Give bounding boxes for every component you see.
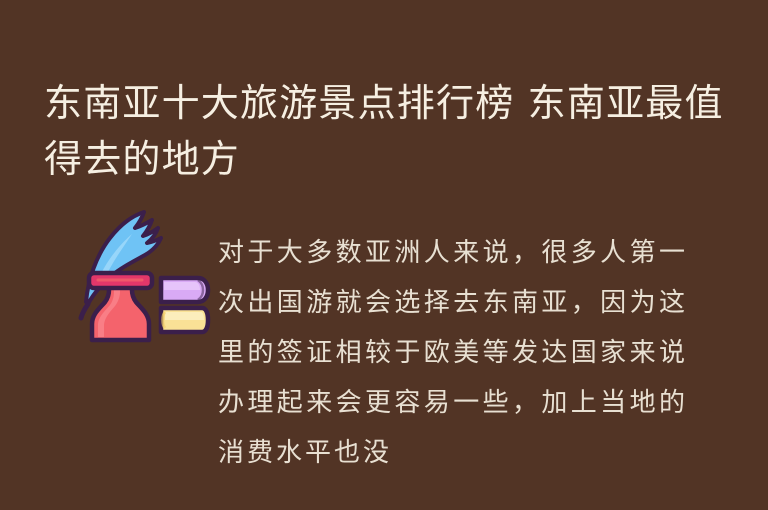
page-title: 东南亚十大旅游景点排行榜 东南亚最值得去的地方 <box>44 75 734 187</box>
book-yellow <box>161 308 208 332</box>
page-root: 东南亚十大旅游景点排行榜 东南亚最值得去的地方 <box>0 0 768 510</box>
inkwell-quill-books-illustration <box>62 194 212 349</box>
inkwell-bottle-icon <box>89 273 152 340</box>
book-purple <box>161 278 208 302</box>
article-body: 对于大多数亚洲人来说，很多人第一次出国游就会选择去东南亚，因为这里的签证相较于欧… <box>44 186 734 486</box>
article-paragraph: 对于大多数亚洲人来说，很多人第一次出国游就会选择去东南亚，因为这里的签证相较于欧… <box>218 228 688 478</box>
illustration-svg <box>62 194 212 349</box>
